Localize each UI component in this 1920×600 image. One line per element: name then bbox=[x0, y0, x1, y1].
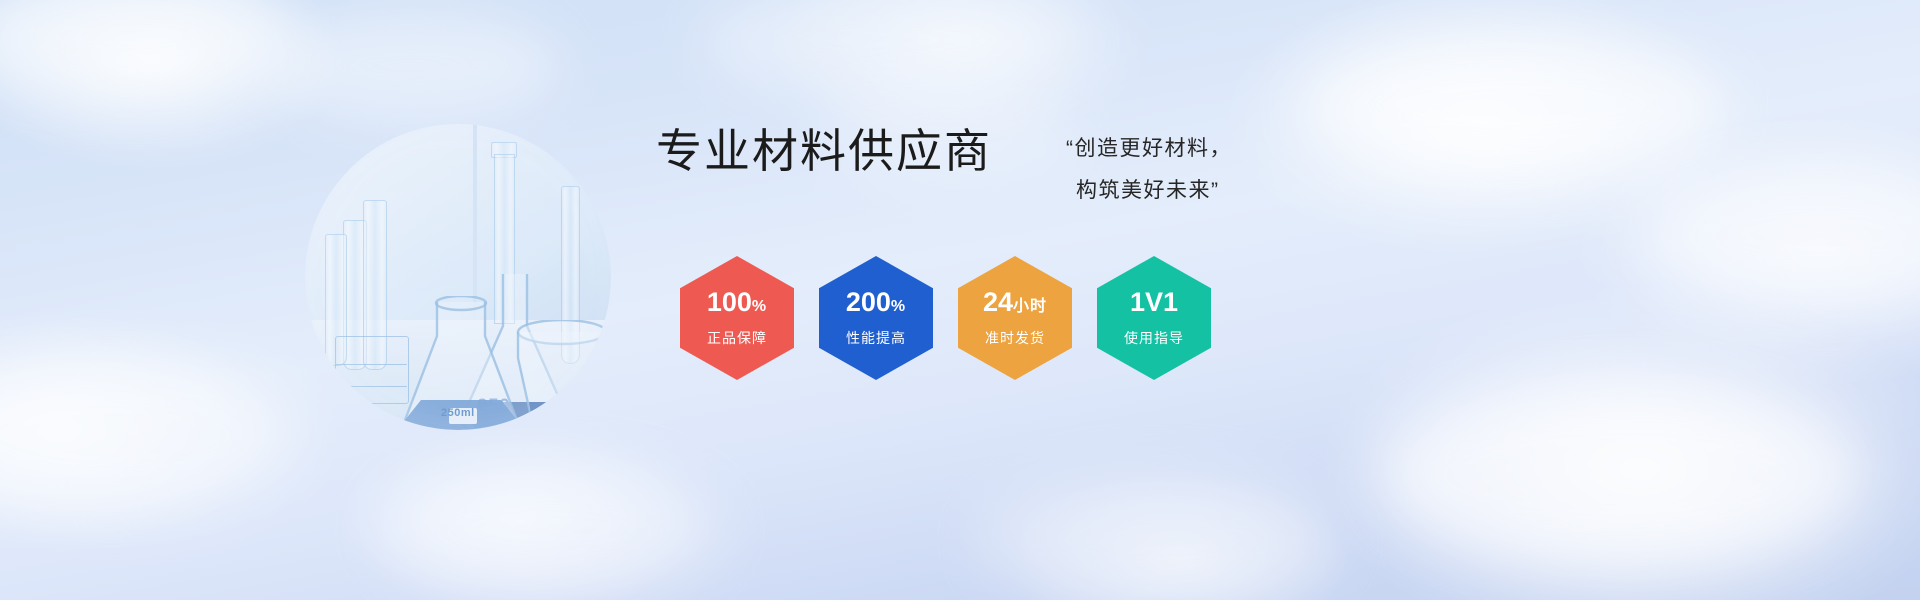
photo-color-tint bbox=[305, 124, 611, 430]
feature-label: 正品保障 bbox=[707, 328, 767, 348]
feature-value: 200% bbox=[846, 289, 906, 316]
feature-value: 1V1 bbox=[1130, 289, 1178, 316]
feature-label: 准时发货 bbox=[985, 328, 1045, 348]
cloud-decoration bbox=[980, 470, 1340, 600]
cloud-decoration bbox=[0, 0, 290, 100]
cloud-decoration bbox=[700, 0, 1080, 100]
cloud-decoration bbox=[260, 10, 560, 120]
feature-label: 使用指导 bbox=[1124, 328, 1184, 348]
hero-banner: 250 250ml 专业材料供应商 “创 bbox=[0, 0, 1920, 600]
feature-hexagon-performance[interactable]: 200% 性能提高 bbox=[819, 256, 933, 380]
slogan-line-1: “创造更好材料， bbox=[1066, 128, 1266, 170]
feature-value: 24小时 bbox=[983, 289, 1047, 316]
brand-slogan: “创造更好材料， 构筑美好未来” bbox=[1066, 128, 1266, 212]
feature-label: 性能提高 bbox=[846, 328, 906, 348]
cloud-decoration bbox=[0, 350, 300, 520]
feature-unit: 小时 bbox=[1013, 298, 1047, 315]
cloud-decoration bbox=[1640, 160, 1920, 310]
feature-hexagon-row: 100% 正品保障 200% 性能提高 24小时 准时发货 1V1 使用指导 bbox=[680, 256, 1211, 380]
feature-number: 100 bbox=[707, 287, 752, 317]
feature-hexagon-guidance[interactable]: 1V1 使用指导 bbox=[1097, 256, 1211, 380]
feature-number: 200 bbox=[846, 287, 891, 317]
feature-hexagon-shipping[interactable]: 24小时 准时发货 bbox=[958, 256, 1072, 380]
feature-hexagon-authenticity[interactable]: 100% 正品保障 bbox=[680, 256, 794, 380]
cloud-decoration bbox=[1300, 30, 1730, 180]
feature-unit: % bbox=[752, 298, 767, 315]
cloud-decoration bbox=[1380, 380, 1860, 570]
feature-value: 100% bbox=[707, 289, 767, 316]
page-title: 专业材料供应商 bbox=[656, 128, 992, 174]
lab-glassware-circle-image: 250 250ml bbox=[305, 124, 611, 430]
cloud-decoration bbox=[380, 460, 720, 600]
slogan-line-2: 构筑美好未来” bbox=[1066, 170, 1266, 212]
feature-number: 24 bbox=[983, 287, 1013, 317]
feature-number: 1V1 bbox=[1130, 287, 1178, 317]
feature-unit: % bbox=[891, 298, 906, 315]
